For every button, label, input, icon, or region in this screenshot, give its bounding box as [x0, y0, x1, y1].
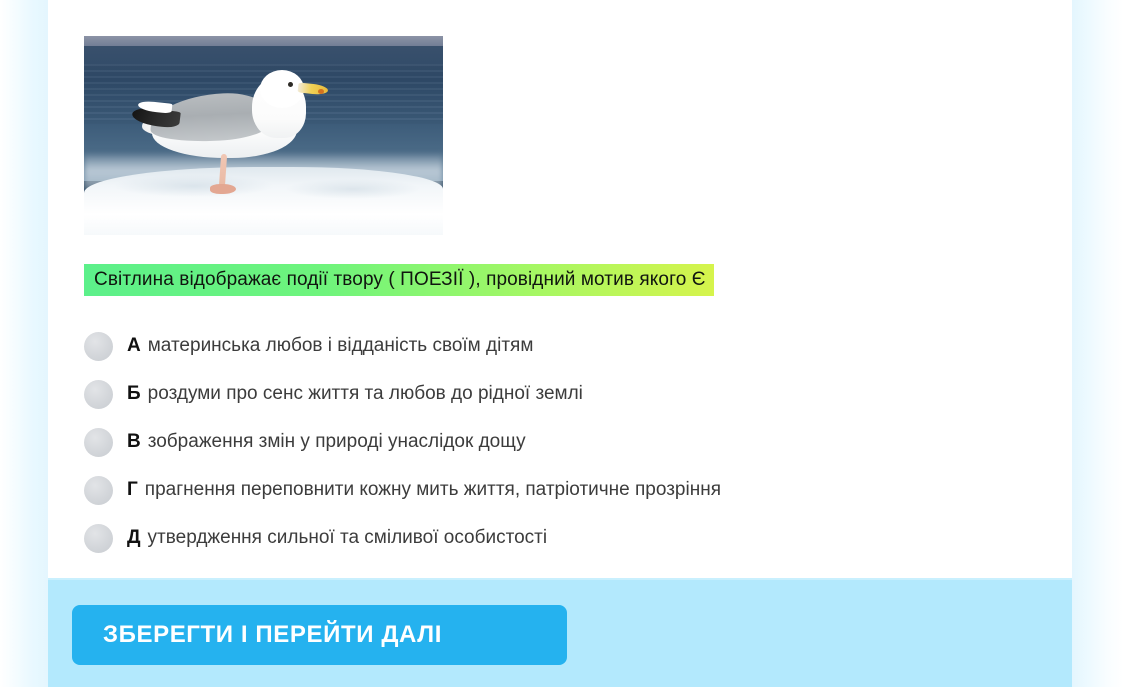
save-and-continue-button[interactable]: ЗБЕРЕГТИ І ПЕРЕЙТИ ДАЛІ [72, 605, 567, 665]
page-edge-left-gradient [0, 0, 48, 687]
photo-canvas [84, 36, 443, 235]
answer-option-h[interactable]: Г прагнення переповнити кожну мить життя… [84, 466, 1044, 514]
seagull-eye [288, 82, 293, 87]
option-label: материнська любов і відданість своїм діт… [148, 335, 534, 357]
option-letter: А [127, 335, 141, 357]
option-label: прагнення переповнити кожну мить життя, … [145, 479, 721, 501]
option-letter: Б [127, 383, 141, 405]
answer-option-v[interactable]: В зображення змін у природі унаслідок до… [84, 418, 1044, 466]
seagull-figure [112, 54, 342, 214]
page-edge-right-gradient [1072, 0, 1123, 687]
footer-bar: ЗБЕРЕГТИ І ПЕРЕЙТИ ДАЛІ [48, 578, 1072, 687]
answer-option-d[interactable]: Д утвердження сильної та сміливої особис… [84, 514, 1044, 562]
option-label: утвердження сильної та сміливої особисто… [148, 527, 548, 549]
radio-button-icon[interactable] [84, 428, 113, 457]
quiz-page: Світлина відображає події твору ( ПОЕЗІЇ… [0, 0, 1123, 687]
option-letter: Д [127, 527, 141, 549]
radio-button-icon[interactable] [84, 524, 113, 553]
radio-button-icon[interactable] [84, 380, 113, 409]
answer-option-b[interactable]: Б роздуми про сенс життя та любов до рід… [84, 370, 1044, 418]
option-label: роздуми про сенс життя та любов до рідно… [148, 383, 583, 405]
radio-button-icon[interactable] [84, 476, 113, 505]
question-card: Світлина відображає події твору ( ПОЕЗІЇ… [48, 0, 1072, 578]
seagull-foot [210, 184, 236, 194]
option-letter: Г [127, 479, 138, 501]
answer-option-a[interactable]: А материнська любов і відданість своїм д… [84, 322, 1044, 370]
seagull-on-ice-photo [84, 36, 443, 235]
option-letter: В [127, 431, 141, 453]
seagull-beak-spot [318, 89, 324, 94]
radio-button-icon[interactable] [84, 332, 113, 361]
answer-options-list: А материнська любов і відданість своїм д… [84, 322, 1044, 562]
option-label: зображення змін у природі унаслідок дощу [148, 431, 526, 453]
question-text: Світлина відображає події твору ( ПОЕЗІЇ… [84, 264, 714, 296]
